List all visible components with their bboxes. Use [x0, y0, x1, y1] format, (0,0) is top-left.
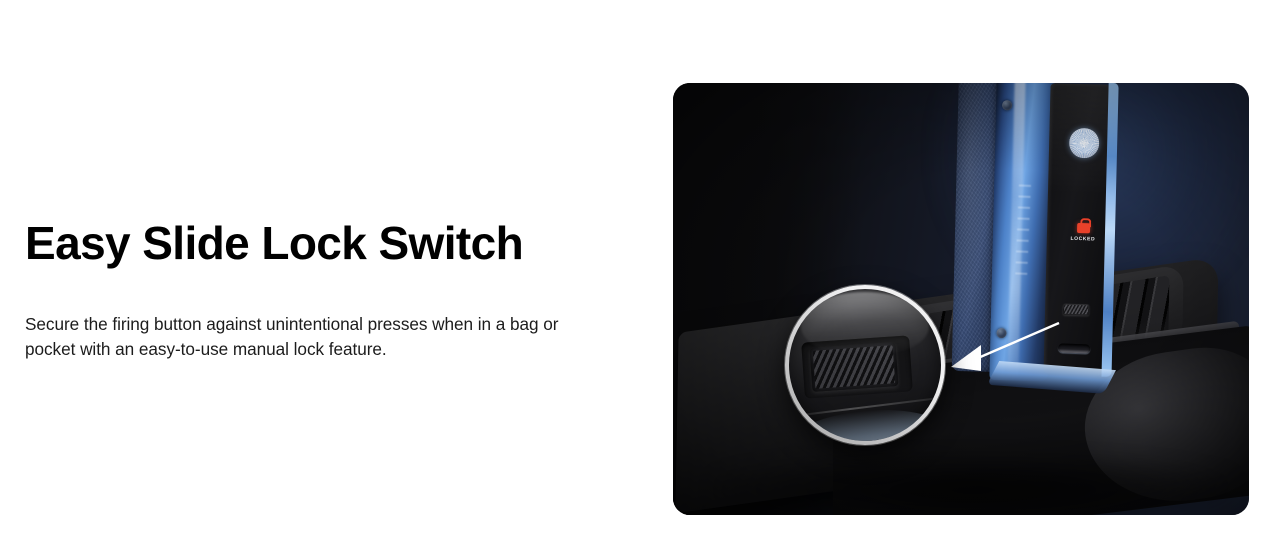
feature-text-column: Easy Slide Lock Switch Secure the firing… — [25, 0, 625, 560]
scene-vignette — [673, 83, 1249, 515]
page-title: Easy Slide Lock Switch — [25, 218, 523, 270]
product-image-panel: LOCKED — [673, 83, 1249, 515]
feature-description: Secure the firing button against uninten… — [25, 312, 590, 362]
